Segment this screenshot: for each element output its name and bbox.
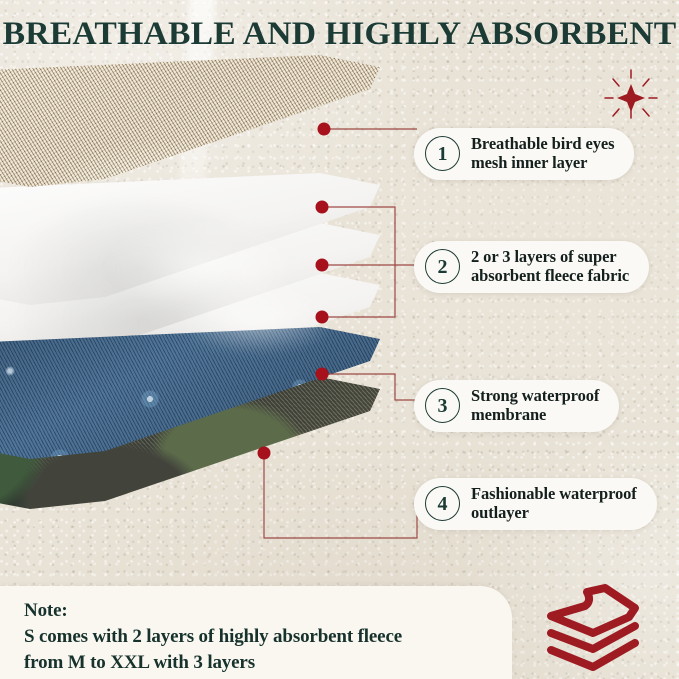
callout-2-number: 2 [425,249,460,284]
callout-3-label: Strong waterproof membrane [471,387,599,425]
fabric-layer-stack [0,55,400,555]
note-text: Note: S comes with 2 layers of highly ab… [24,598,402,675]
callout-3[interactable]: 3 Strong waterproof membrane [414,380,619,432]
callout-3-number: 3 [425,388,460,423]
callout-4-label: Fashionable waterproof outlayer [471,485,637,523]
callout-4[interactable]: 4 Fashionable waterproof outlayer [414,478,657,530]
sparkle-star-icon [604,68,658,122]
layered-sheets-icon [545,583,641,675]
callout-4-number: 4 [425,486,460,521]
callout-2[interactable]: 2 2 or 3 layers of super absorbent fleec… [414,241,649,293]
page-title: BREATHABLE AND HIGHLY ABSORBENT [0,18,679,51]
note-panel: Note: S comes with 2 layers of highly ab… [0,586,512,679]
product-infographic: BREATHABLE AND HIGHLY ABSORBENT [0,0,679,679]
callout-1[interactable]: 1 Breathable bird eyes mesh inner layer [414,128,634,180]
callout-1-label: Breathable bird eyes mesh inner layer [471,135,614,173]
callout-1-number: 1 [425,136,460,171]
callout-2-label: 2 or 3 layers of super absorbent fleece … [471,248,629,286]
